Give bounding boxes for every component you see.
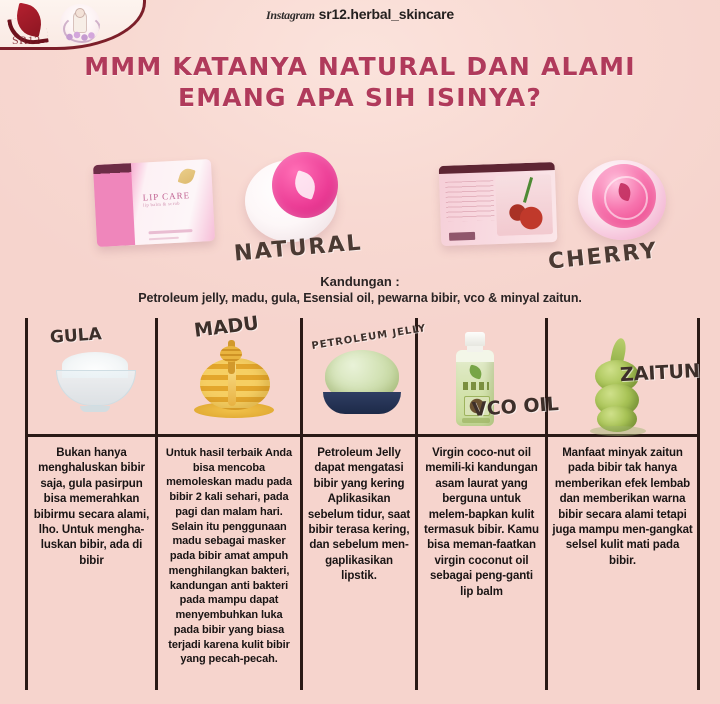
ingredient-column-gula: GULA Bukan hanya menghaluskan bibir saja… xyxy=(25,318,155,690)
product-jar-cherry xyxy=(578,154,668,242)
ingredients-title: Kandungan : xyxy=(0,274,720,289)
flowers-shape xyxy=(65,31,95,41)
instagram-username: sr12.herbal_skincare xyxy=(319,6,454,22)
ingredient-label-zaitun: ZAITUN xyxy=(619,360,700,386)
page-title: MMM KATANYA NATURAL DAN ALAMI EMANG APA … xyxy=(0,52,720,113)
infographic-poster: SR12 Instagram sr12.herbal_skincare MMM … xyxy=(0,0,720,704)
jar-lid xyxy=(272,152,338,218)
box-text-block xyxy=(445,180,494,222)
box-bar-1 xyxy=(148,229,192,234)
headline-line-1: MMM KATANYA NATURAL DAN ALAMI xyxy=(84,52,636,81)
ingredient-label-gula: GULA xyxy=(49,324,102,348)
product-box-natural: LIP CARE lip balm & scrub xyxy=(93,159,215,247)
logo-text: SR12 xyxy=(12,33,41,48)
ingredient-column-zaitun: ZAITUN Manfaat minyak zaitun pada bibir … xyxy=(545,318,700,690)
leaf-icon xyxy=(291,170,319,200)
ingredient-column-vco: VCO OIL Virgin coco-nut oil memili-ki ka… xyxy=(415,318,545,690)
product-box-cherry xyxy=(439,162,558,246)
ingredient-column-petroleum-jelly: PETROLEUM JELLY Petroleum Jelly dapat me… xyxy=(300,318,415,690)
instagram-handle: Instagram sr12.herbal_skincare xyxy=(266,6,454,23)
sr12-leaf-icon: SR12 xyxy=(8,3,54,45)
woman-wreath-badge-icon xyxy=(60,4,100,44)
cherry-image xyxy=(495,174,553,236)
ingredients-header: Kandungan : Petroleum jelly, madu, gula,… xyxy=(0,274,720,305)
ingredient-text-zaitun: Manfaat minyak zaitun pada bibir tak han… xyxy=(552,446,693,569)
box-sublabel-natural: lip balm & scrub xyxy=(143,200,191,207)
sprig-decor-icon xyxy=(178,167,196,186)
product-jar-natural xyxy=(245,152,339,244)
box-label-natural: LIP CARE lip balm & scrub xyxy=(142,190,190,207)
figure-head xyxy=(75,8,85,18)
ingredient-text-gula: Bukan hanya menghaluskan bibir saja, gul… xyxy=(32,446,151,569)
box-bar-2 xyxy=(149,237,179,241)
ingredient-text-vco: Virgin coco-nut oil memili-ki kandungan … xyxy=(422,446,541,600)
ingredient-text-madu: Untuk hasil terbaik Anda bisa mencoba me… xyxy=(162,446,296,667)
brand-logo: SR12 xyxy=(0,0,146,50)
ingredients-list: Petroleum jelly, madu, gula, Esensial oi… xyxy=(0,291,720,305)
instagram-wordmark: Instagram xyxy=(266,8,315,23)
ingredient-grid: GULA Bukan hanya menghaluskan bibir saja… xyxy=(25,318,700,690)
headline-line-2: EMANG APA SIH ISINYA? xyxy=(0,83,720,114)
box-logo-mark xyxy=(449,232,475,241)
ingredient-text-petroleum-jelly: Petroleum Jelly dapat mengatasi bibir ya… xyxy=(307,446,411,585)
ingredient-column-madu: MADU Untuk hasil terbaik Anda bisa menco… xyxy=(155,318,300,690)
